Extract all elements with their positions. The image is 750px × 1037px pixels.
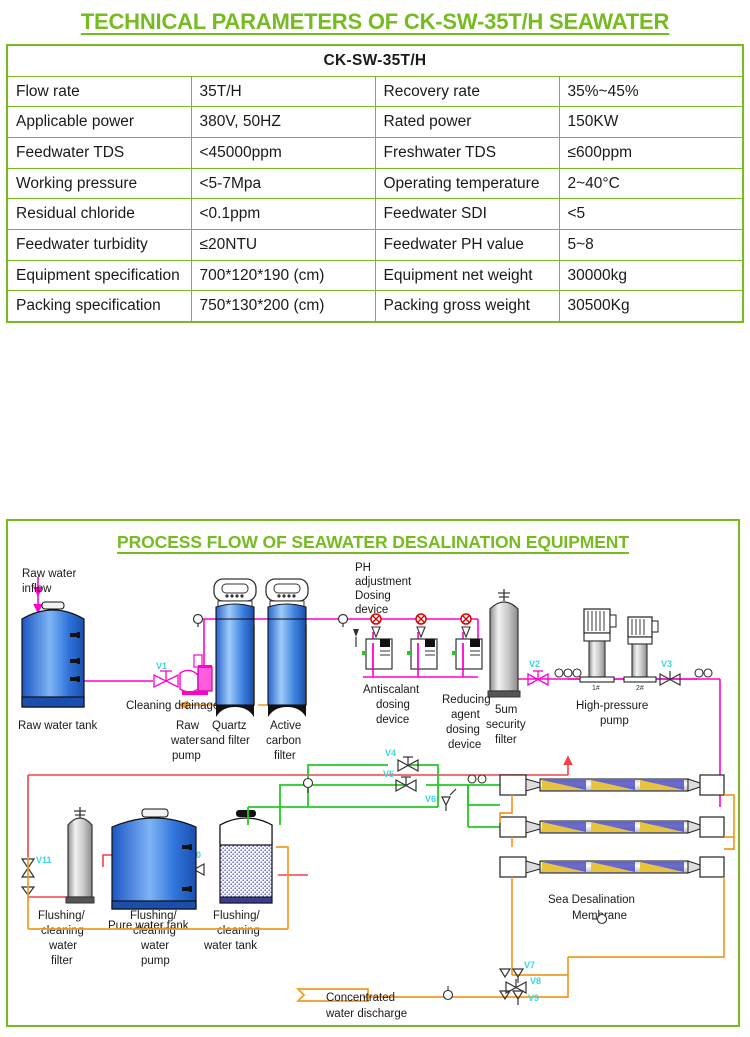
param-value: 150KW — [559, 107, 743, 138]
param-key: Freshwater TDS — [375, 137, 559, 168]
param-value: 750*130*200 (cm) — [191, 291, 375, 322]
valve-label-v8: V8 — [530, 976, 541, 986]
param-key: Packing gross weight — [375, 291, 559, 322]
valve-v4 — [398, 757, 418, 771]
flushing-pump-label-4: pump — [141, 955, 170, 967]
page-root: TECHNICAL PARAMETERS OF CK-SW-35T/H SEAW… — [0, 0, 750, 1037]
table-row: Feedwater TDS <45000ppm Freshwater TDS ≤… — [7, 137, 743, 168]
antiscalant-label-1: Antiscalant — [363, 684, 420, 696]
security-filter-label-3: filter — [495, 734, 517, 746]
param-value: ≤20NTU — [191, 229, 375, 260]
param-value: 30000kg — [559, 260, 743, 291]
ro-membrane-3 — [500, 857, 724, 877]
pure-water-tank — [112, 809, 196, 909]
flushing-filter-label-1: Flushing/ — [38, 910, 85, 922]
carbon-filter-label-3: filter — [274, 750, 296, 762]
valve-label-v6: V6 — [425, 794, 436, 804]
param-value: 35%~45% — [559, 76, 743, 107]
pure-water-tank-label: Pure water tank — [108, 920, 189, 932]
param-key: Feedwater turbidity — [7, 229, 191, 260]
gauge-icon — [339, 615, 348, 628]
membrane-label-1: Sea Desalination — [548, 894, 635, 906]
concentrate-label-2: water discharge — [325, 1008, 407, 1020]
flushing-tank-label-3: water tank — [203, 940, 257, 952]
high-pressure-pump-label-2: pump — [600, 715, 629, 727]
gauge-icon — [555, 669, 581, 677]
reducing-agent-label-2: agent — [451, 709, 481, 721]
carbon-filter-label-1: Active — [270, 720, 301, 732]
table-row: Flow rate 35T/H Recovery rate 35%~45% — [7, 76, 743, 107]
table-row: Feedwater turbidity ≤20NTU Feedwater PH … — [7, 229, 743, 260]
param-key: Applicable power — [7, 107, 191, 138]
param-key: Equipment specification — [7, 260, 191, 291]
param-value: ≤600ppm — [559, 137, 743, 168]
raw-water-inflow-label-1: Raw water — [22, 568, 76, 580]
param-value: <5 — [559, 199, 743, 230]
page-title: TECHNICAL PARAMETERS OF CK-SW-35T/H SEAW… — [0, 0, 750, 35]
param-value: 380V, 50HZ — [191, 107, 375, 138]
param-key: Recovery rate — [375, 76, 559, 107]
valve-label-v11: V11 — [36, 855, 52, 865]
valve-label-v3: V3 — [661, 659, 672, 669]
param-key: Equipment net weight — [375, 260, 559, 291]
gauge-icon — [304, 779, 313, 794]
flushing-water-filter — [66, 807, 94, 903]
security-filter-label-1: 5um — [495, 704, 517, 716]
table-row: Equipment specification 700*120*190 (cm)… — [7, 260, 743, 291]
valve-label-v5: V5 — [383, 769, 394, 779]
table-row: Applicable power 380V, 50HZ Rated power … — [7, 107, 743, 138]
check-valve-icon — [353, 629, 359, 647]
model-name: CK-SW-35T/H — [7, 45, 743, 76]
param-value: <45000ppm — [191, 137, 375, 168]
antiscalant-label-3: device — [376, 714, 409, 726]
process-flow-diagram: Raw water inflow Raw water tank V1 Raw — [8, 557, 738, 1025]
param-key: Packing specification — [7, 291, 191, 322]
concentrate-label-1: Concentrated — [326, 992, 395, 1004]
raw-water-pump — [167, 655, 212, 695]
raw-water-inflow-label-2: inflow — [22, 583, 52, 595]
high-pressure-pump-label-1: High-pressure — [576, 700, 648, 712]
reducing-agent-label-1: Reducing — [442, 694, 491, 706]
param-key: Feedwater PH value — [375, 229, 559, 260]
active-carbon-filter — [266, 579, 308, 717]
raw-water-pump-label-2: water — [170, 735, 199, 747]
gauge-icon — [194, 615, 203, 628]
raw-water-pump-label-3: pump — [172, 750, 201, 762]
valve-v3 — [660, 671, 680, 685]
param-key: Operating temperature — [375, 168, 559, 199]
table-row: Packing specification 750*130*200 (cm) P… — [7, 291, 743, 322]
ro-membrane-1 — [500, 775, 724, 795]
param-value: 5~8 — [559, 229, 743, 260]
param-value: <0.1ppm — [191, 199, 375, 230]
valve-v2 — [528, 671, 548, 685]
param-value: <5-7Mpa — [191, 168, 375, 199]
param-value: 2~40°C — [559, 168, 743, 199]
param-key: Residual chloride — [7, 199, 191, 230]
flushing-pump-label-3: water — [140, 940, 169, 952]
raw-water-pump-label-1: Raw — [176, 720, 200, 732]
ph-dosing-label-2: adjustment — [355, 576, 412, 588]
security-filter-label-2: security — [486, 719, 526, 731]
param-key: Rated power — [375, 107, 559, 138]
gauge-icon — [444, 986, 453, 1000]
spec-table: CK-SW-35T/H Flow rate 35T/H Recovery rat… — [6, 44, 744, 323]
flushing-filter-label-2: cleaning — [41, 925, 84, 937]
valve-v6 — [442, 789, 456, 811]
security-filter — [488, 589, 520, 697]
valve-label-v1: V1 — [156, 661, 167, 671]
gauge-icon — [695, 669, 712, 677]
table-row: Working pressure <5-7Mpa Operating tempe… — [7, 168, 743, 199]
param-value: 35T/H — [191, 76, 375, 107]
valve-label-v7: V7 — [524, 960, 535, 970]
quartz-filter-label-1: Quartz — [212, 720, 247, 732]
flushing-filter-label-4: filter — [51, 955, 73, 967]
param-key: Flow rate — [7, 76, 191, 107]
table-row-model: CK-SW-35T/H — [7, 45, 743, 76]
param-value: 30500Kg — [559, 291, 743, 322]
gauge-icon — [468, 775, 486, 783]
flushing-water-tank — [220, 810, 272, 903]
ro-membrane-2 — [500, 817, 724, 837]
param-key: Working pressure — [7, 168, 191, 199]
reducing-agent-label-4: device — [448, 739, 481, 751]
carbon-filter-label-2: carbon — [266, 735, 301, 747]
high-pressure-pump-2 — [624, 617, 658, 682]
process-flow-title: PROCESS FLOW OF SEAWATER DESALINATION EQ… — [8, 521, 738, 553]
valve-label-v2: V2 — [529, 659, 540, 669]
param-key: Feedwater TDS — [7, 137, 191, 168]
ph-dosing-label-1: PH — [355, 562, 371, 574]
spec-table-wrapper: CK-SW-35T/H Flow rate 35T/H Recovery rat… — [6, 44, 744, 323]
pump2-tag: 2# — [636, 685, 644, 692]
raw-water-tank — [22, 602, 84, 707]
cleaning-drainage-label: Cleaning drainage — [126, 700, 219, 712]
high-pressure-pump-1 — [580, 609, 616, 682]
process-flow-panel: PROCESS FLOW OF SEAWATER DESALINATION EQ… — [6, 519, 740, 1027]
valve-v1 — [154, 671, 178, 687]
antiscalant-label-2: dosing — [376, 699, 410, 711]
table-row: Residual chloride <0.1ppm Feedwater SDI … — [7, 199, 743, 230]
ph-dosing-label-4: device — [355, 604, 388, 616]
valve-label-v9: V9 — [528, 993, 539, 1003]
valve-v9 — [500, 991, 523, 1005]
raw-water-tank-label: Raw water tank — [18, 720, 98, 732]
quartz-sand-filter — [214, 579, 256, 717]
ph-dosing-label-3: Dosing — [355, 590, 391, 602]
flushing-tank-label-2: cleaning — [217, 925, 260, 937]
valve-label-v4: V4 — [385, 748, 396, 758]
param-value: 700*120*190 (cm) — [191, 260, 375, 291]
ph-dosing-device — [362, 614, 392, 669]
flushing-filter-label-3: water — [48, 940, 77, 952]
antiscalant-dosing-device — [407, 614, 437, 669]
valve-v5 — [396, 777, 416, 791]
quartz-filter-label-2: sand filter — [200, 735, 250, 747]
flushing-tank-label-1: Flushing/ — [213, 910, 260, 922]
pump1-tag: 1# — [592, 685, 600, 692]
param-key: Feedwater SDI — [375, 199, 559, 230]
reducing-agent-label-3: dosing — [446, 724, 480, 736]
